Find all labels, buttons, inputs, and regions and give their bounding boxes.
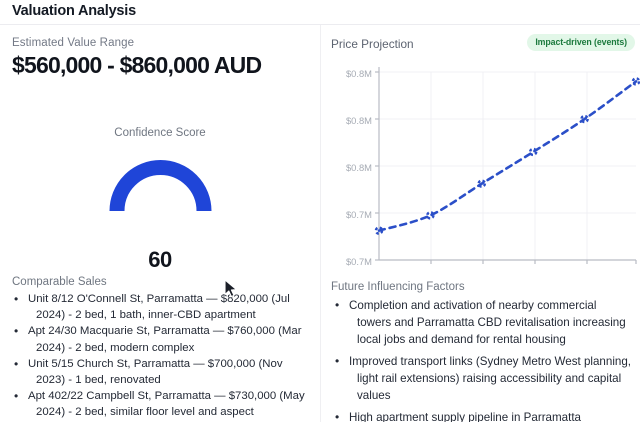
valuation-analysis-page: Valuation Analysis Estimated Value Range… [0, 0, 640, 422]
comparable-sales-label: Comparable Sales [12, 276, 107, 288]
left-column: Estimated Value Range $560,000 - $860,00… [0, 25, 320, 422]
list-item: •Apt 402/22 Campbell St, Parramatta — $7… [12, 388, 312, 420]
right-column: Price Projection Impact-driven (events) … [321, 25, 640, 422]
price-projection-line [379, 81, 636, 230]
y-tick-label: $0.7M [346, 209, 372, 220]
confidence-score-value: 60 [0, 247, 320, 273]
price-projection-chart: $0.8M $0.8M $0.8M $0.7M $0.7M [321, 53, 640, 281]
list-item-text: High apartment supply pipeline in Parram… [349, 411, 581, 422]
chart-gridlines [379, 72, 636, 260]
page-title: Valuation Analysis [12, 3, 136, 19]
future-factors-label: Future Influencing Factors [331, 281, 465, 293]
list-item: •Apt 24/30 Macquarie St, Parramatta — $7… [12, 323, 312, 355]
list-item-text: Unit 5/15 Church St, Parramatta — $700,0… [28, 358, 283, 386]
y-tick-label: $0.7M [346, 256, 372, 267]
confidence-gauge-arc [108, 153, 213, 215]
list-item: •Unit 5/15 Church St, Parramatta — $700,… [12, 356, 312, 388]
list-item-text: Apt 402/22 Campbell St, Parramatta — $73… [28, 390, 305, 418]
list-item: •High apartment supply pipeline in Parra… [331, 409, 633, 422]
status-badge: Impact-driven (events) [527, 34, 635, 51]
estimated-value: $560,000 - $860,000 AUD [12, 53, 312, 78]
list-item: •Improved transport links (Sydney Metro … [331, 353, 633, 404]
confidence-gauge [108, 153, 213, 215]
future-factors-list: •Completion and activation of nearby com… [331, 297, 633, 422]
y-tick-label: $0.8M [346, 162, 372, 173]
y-tick-label: $0.8M [346, 115, 372, 126]
list-item-text: Completion and activation of nearby comm… [349, 299, 626, 346]
comparable-sales-list: •Unit 8/12 O'Connell St, Parramatta — $8… [12, 291, 312, 422]
list-item-text: Unit 8/12 O'Connell St, Parramatta — $82… [28, 293, 290, 321]
list-item: •Completion and activation of nearby com… [331, 297, 633, 348]
estimated-value-label: Estimated Value Range [12, 37, 134, 49]
y-axis-ticks: $0.8M $0.8M $0.8M $0.7M $0.7M [325, 53, 372, 281]
y-tick-label: $0.8M [346, 68, 372, 79]
mouse-cursor-icon [224, 279, 240, 299]
list-item-text: Improved transport links (Sydney Metro W… [349, 355, 631, 402]
price-projection-markers [376, 78, 639, 233]
chart-title: Price Projection [331, 37, 414, 51]
list-item-text: Apt 24/30 Macquarie St, Parramatta — $76… [28, 325, 302, 353]
list-item: •Unit 8/12 O'Connell St, Parramatta — $8… [12, 291, 312, 323]
confidence-score-label: Confidence Score [0, 127, 320, 139]
